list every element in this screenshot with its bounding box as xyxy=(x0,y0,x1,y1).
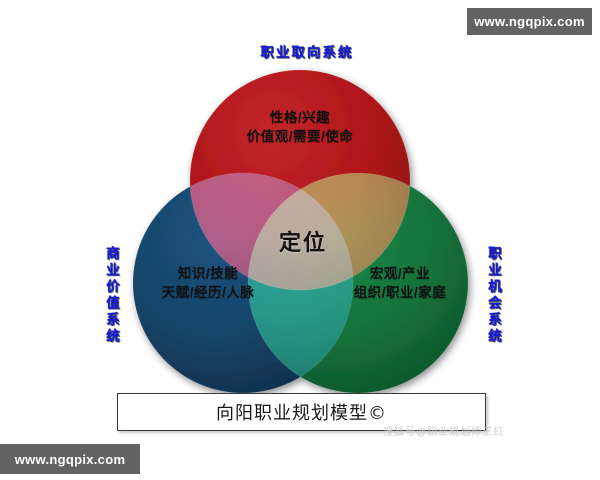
watermark-bottom-left-text: www.ngqpix.com xyxy=(15,452,126,467)
watermark-top-right: www.ngqpix.com xyxy=(467,8,592,35)
system-label-top: 职业取向系统 xyxy=(252,41,362,61)
watermark-bottom-left: www.ngqpix.com xyxy=(0,444,140,474)
watermark-top-right-text: www.ngqpix.com xyxy=(474,14,585,29)
diagram-canvas: 性格/兴趣 价值观/需要/使命 知识/技能 天赋/经历/人脉 宏观/产业 组织/… xyxy=(0,0,600,480)
venn-diagram: 性格/兴趣 价值观/需要/使命 知识/技能 天赋/经历/人脉 宏观/产业 组织/… xyxy=(0,0,600,400)
model-title-text: 向阳职业规划模型© xyxy=(216,399,387,425)
model-title-box: 向阳职业规划模型© xyxy=(117,393,486,431)
venn-circle-green xyxy=(248,173,468,393)
system-label-left: 商业价值系统 xyxy=(101,246,121,345)
venn-circle-group xyxy=(133,70,468,393)
system-label-right: 职业机会系统 xyxy=(483,246,503,345)
